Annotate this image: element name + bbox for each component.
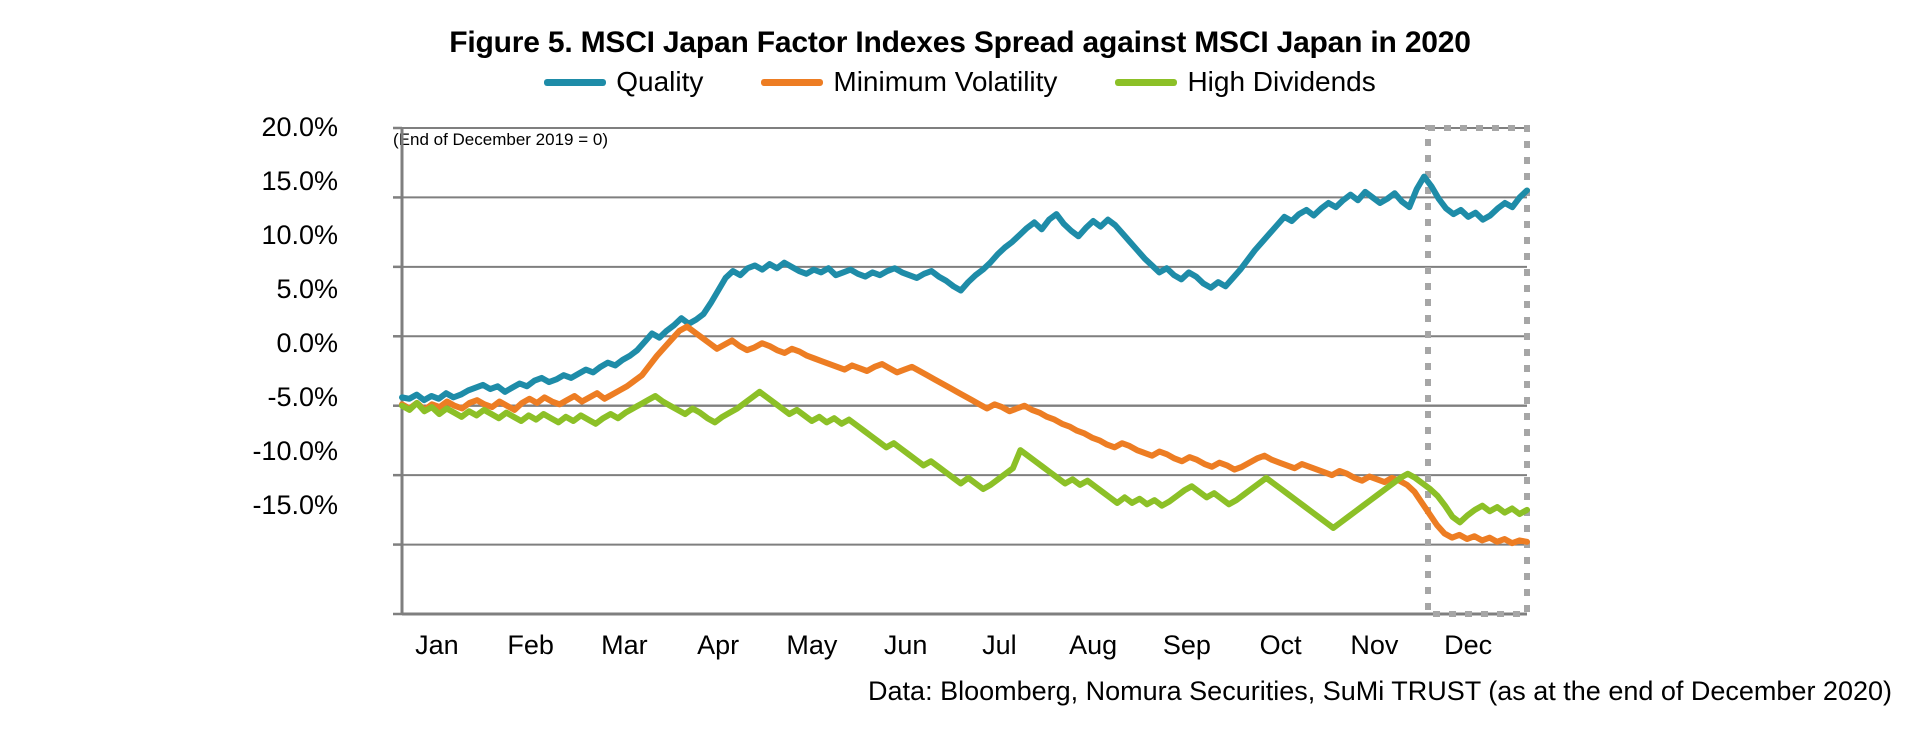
x-tick-label-sep: Sep [1163, 632, 1211, 659]
x-tick-label-may: May [786, 632, 837, 659]
plot-area: 20.0% 15.0% 10.0% 5.0% 0.0% -5.0% -10.0%… [0, 0, 1920, 744]
x-tick-label-nov: Nov [1350, 632, 1398, 659]
figure-container: Figure 5. MSCI Japan Factor Indexes Spre… [0, 0, 1920, 744]
data-series-group [402, 177, 1527, 544]
x-tick-label-oct: Oct [1260, 632, 1302, 659]
x-tick-label-mar: Mar [601, 632, 648, 659]
source-caption: Data: Bloomberg, Nomura Securities, SuMi… [868, 676, 1892, 706]
x-axis-labels: JanFebMarAprMayJunJulAugSepOctNovDec [0, 632, 1920, 666]
x-tick-label-jan: Jan [415, 632, 459, 659]
x-tick-label-jul: Jul [982, 632, 1017, 659]
x-tick-label-dec: Dec [1444, 632, 1492, 659]
series-line-quality [402, 177, 1527, 401]
x-tick-label-feb: Feb [507, 632, 554, 659]
x-tick-label-jun: Jun [884, 632, 928, 659]
x-tick-label-apr: Apr [697, 632, 739, 659]
series-line-high-dividends [402, 392, 1527, 528]
x-tick-label-aug: Aug [1069, 632, 1117, 659]
